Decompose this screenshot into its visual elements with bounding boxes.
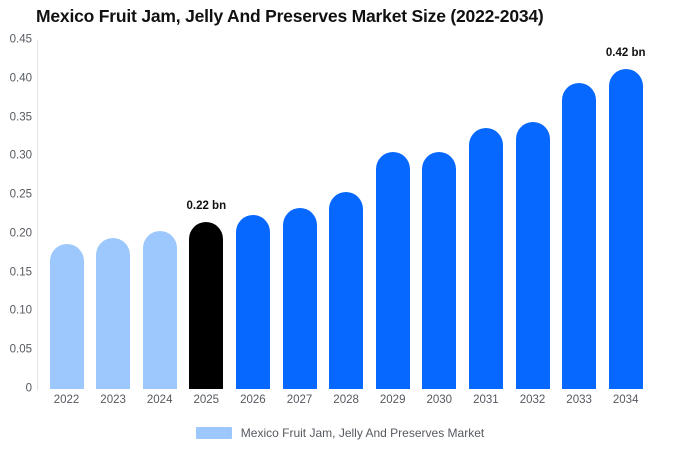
x-axis-tick-2034: 2034 xyxy=(596,395,656,407)
legend-swatch xyxy=(196,427,232,439)
bar-chart: Mexico Fruit Jam, Jelly And Preserves Ma… xyxy=(0,0,680,450)
legend-item[interactable]: Mexico Fruit Jam, Jelly And Preserves Ma… xyxy=(196,426,484,440)
legend-label: Mexico Fruit Jam, Jelly And Preserves Ma… xyxy=(241,426,484,440)
x-axis-tick-labels: 2022202320242025202620272028202920302031… xyxy=(0,0,680,450)
chart-legend: Mexico Fruit Jam, Jelly And Preserves Ma… xyxy=(0,426,680,440)
